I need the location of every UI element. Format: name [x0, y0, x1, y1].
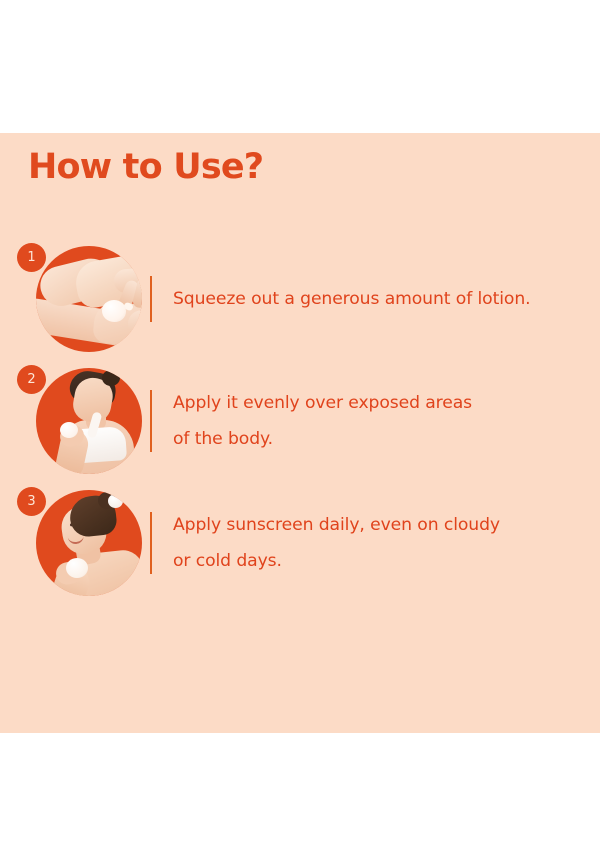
caption-line: of the body.	[173, 421, 600, 457]
step-caption: Apply sunscreen daily, even on cloudy or…	[152, 507, 600, 579]
page-title: How to Use?	[28, 148, 263, 187]
step-caption: Apply it evenly over exposed areas of th…	[152, 385, 600, 457]
caption-line: Squeeze out a generous amount of lotion.	[173, 281, 600, 317]
step-number-badge: 3	[17, 487, 46, 516]
caption-line: Apply sunscreen daily, even on cloudy	[173, 507, 600, 543]
step-media: 1	[0, 238, 150, 360]
step-item: 2 Apply it evenly over exposed areas of …	[0, 360, 600, 482]
how-to-use-steps-list: 1 Squeeze out a generous amount of lotio…	[0, 238, 600, 604]
step-item: 3 Apply sunscreen daily, even on cloudy …	[0, 482, 600, 604]
woman-applying-lotion-to-shoulder-photo	[36, 368, 142, 474]
step-number-badge: 1	[17, 243, 46, 272]
step-number-badge: 2	[17, 365, 46, 394]
step-media: 3	[0, 482, 150, 604]
step-item: 1 Squeeze out a generous amount of lotio…	[0, 238, 600, 360]
smiling-woman-applying-sunscreen-photo	[36, 490, 142, 596]
step-caption: Squeeze out a generous amount of lotion.	[152, 281, 600, 317]
caption-line: or cold days.	[173, 543, 600, 579]
hands-applying-lotion-photo	[36, 246, 142, 352]
step-media: 2	[0, 360, 150, 482]
caption-line: Apply it evenly over exposed areas	[173, 385, 600, 421]
